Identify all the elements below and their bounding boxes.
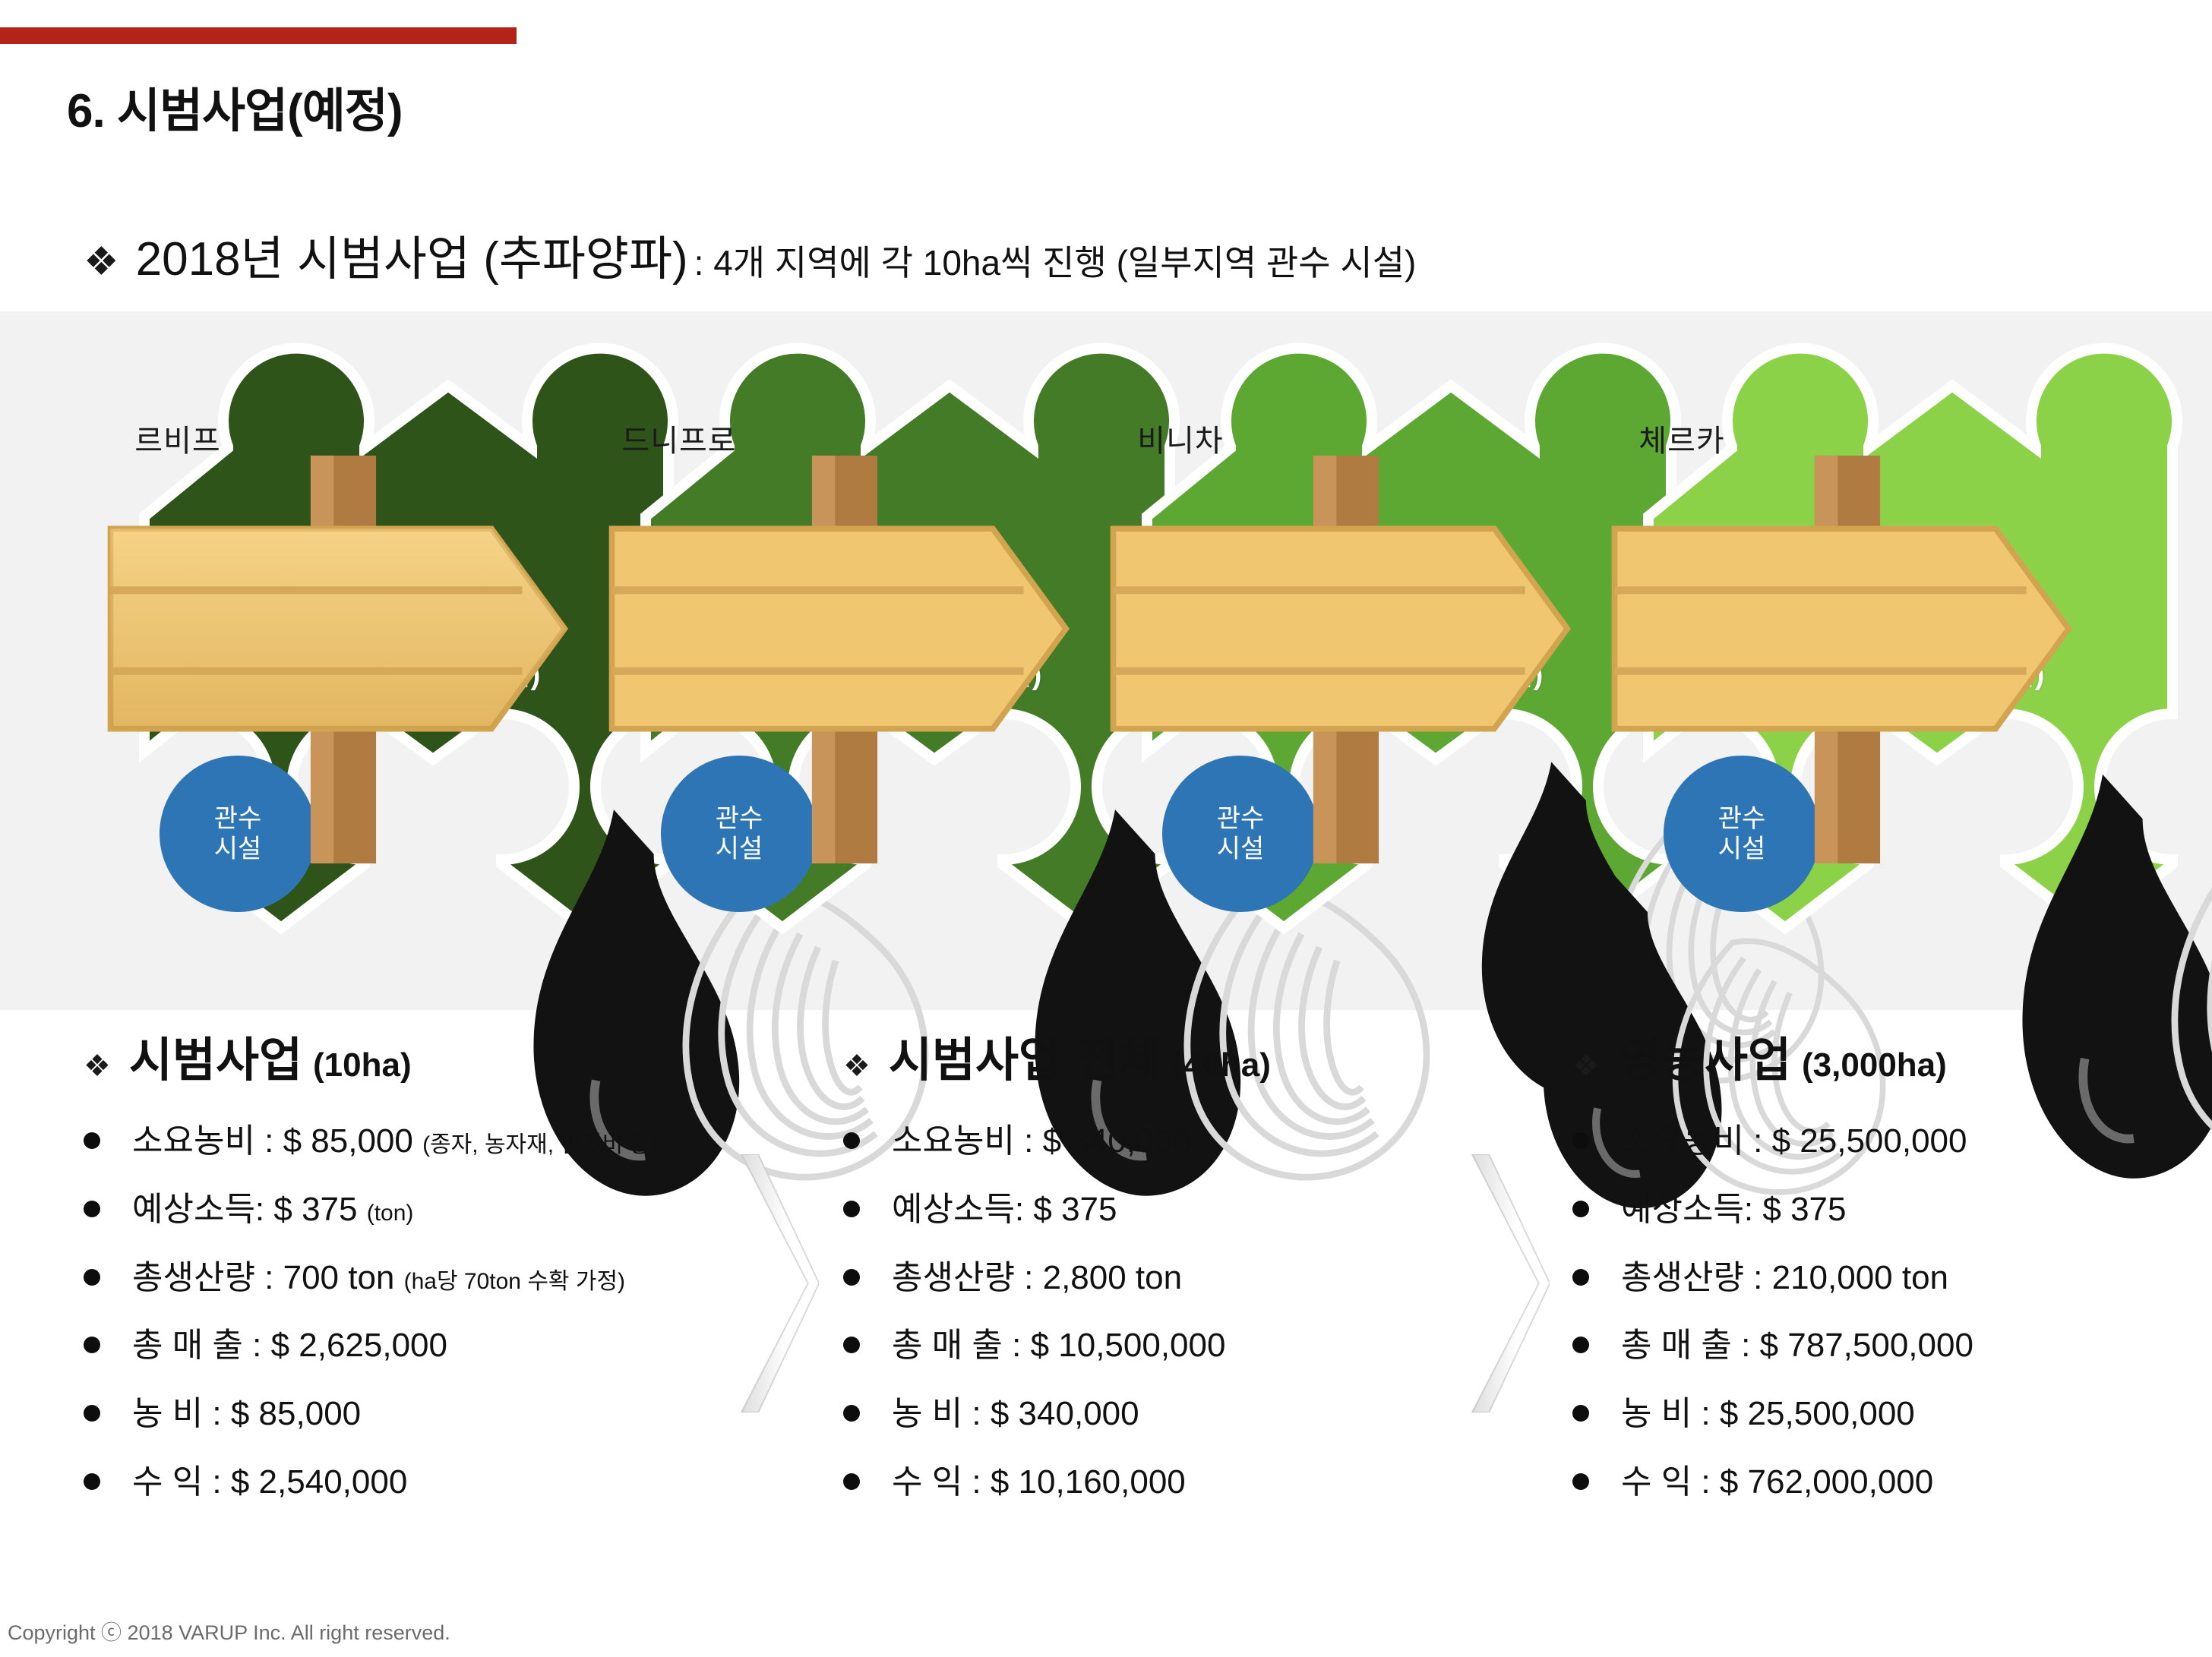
metric-text: 소요농비 : $ 85,000 (종자, 농자재, 인건비 등) (132, 1117, 658, 1166)
metric-list-3: 소요농비 : $ 25,500,000 예상소득: $ 375 총생산량 : 2… (1572, 1117, 2210, 1507)
metric-text: 예상소득: $ 375 (1621, 1185, 1846, 1234)
metric-text: 총생산량 : 700 ton (ha당 70ton 수확 가정) (132, 1254, 625, 1302)
diamond-bullet-icon-c1: ❖ (84, 1049, 111, 1084)
column-header-3: ❖ 영농사업 (3,000ha) (1572, 1021, 2210, 1090)
footer-copyright: Copyright ⓒ 2018 VARUP Inc. All right re… (8, 1616, 450, 1646)
list-item: 총생산량 : 2,800 ton (843, 1254, 1527, 1302)
metric-text: 총생산량 : 2,800 ton (892, 1254, 1182, 1302)
bullet-dot-icon (84, 1473, 100, 1490)
diamond-bullet-icon-c2: ❖ (843, 1049, 871, 1084)
list-item: 소요농비 : $ 85,000 (종자, 농자재, 인건비 등) (84, 1117, 805, 1166)
bullet-dot-icon (84, 1269, 100, 1286)
subtitle-detail-text: : 4개 지역에 각 10ha씩 진행 (일부지역 관수 시설) (694, 235, 1417, 286)
bullet-dot-icon (843, 1337, 860, 1353)
metric-text: 예상소득: $ 375 (ton) (132, 1185, 413, 1234)
list-item: 수 익 : $ 10,160,000 (843, 1458, 1527, 1507)
column-scale-2: (40ha) (1172, 1046, 1271, 1084)
metric-text: 수 익 : $ 762,000,000 (1621, 1458, 1933, 1507)
metric-text: 총생산량 : 210,000 ton (1621, 1254, 1948, 1302)
summary-column-farming-3000ha: ❖ 영농사업 (3,000ha) 소요농비 : $ 25,500,000 예상소… (1572, 1021, 2210, 1526)
list-item: 총생산량 : 700 ton (ha당 70ton 수확 가정) (84, 1254, 805, 1302)
metric-text: 예상소득: $ 375 (892, 1185, 1117, 1234)
region-name-2: 드니프로 (603, 416, 755, 460)
list-item: 농 비 : $ 25,500,000 (1572, 1390, 2210, 1438)
bullet-dot-icon (843, 1201, 860, 1217)
title-accent-rule (0, 27, 517, 44)
metric-list-2: 소요농비 : $ 340,000 예상소득: $ 375 총생산량 : 2,80… (843, 1117, 1527, 1507)
subtitle-main-text: 2018년 시범사업 (추파양파) (136, 220, 688, 289)
column-title-3: 영농사업 (1618, 1021, 1791, 1090)
bullet-dot-icon (1572, 1405, 1589, 1422)
summary-columns: ❖ 시범사업 (10ha) 소요농비 : $ 85,000 (종자, 농자재, … (0, 1021, 2212, 1644)
region-piece-4[interactable]: 10ha 추파양파 재배 (노지) (1618, 357, 2195, 957)
signpost-4: 체르카 (1588, 361, 1815, 536)
summary-column-pilot-10ha: ❖ 시범사업 (10ha) 소요농비 : $ 85,000 (종자, 농자재, … (84, 1021, 805, 1526)
list-item: 예상소득: $ 375 (843, 1185, 1527, 1234)
bullet-dot-icon (1572, 1269, 1589, 1286)
bullet-dot-icon (84, 1132, 100, 1149)
bullet-dot-icon (84, 1405, 100, 1422)
metric-text: 총 매 출 : $ 787,500,000 (1621, 1321, 1973, 1370)
metric-text: 소요농비 : $ 340,000 (892, 1117, 1191, 1166)
list-item: 소요농비 : $ 25,500,000 (1572, 1117, 2210, 1166)
metric-text: 농 비 : $ 340,000 (892, 1390, 1139, 1438)
regions-band: 10ha 추파양파 재배 (노지) (0, 311, 2212, 1010)
bullet-dot-icon (843, 1405, 860, 1422)
bullet-dot-icon (843, 1473, 860, 1490)
bullet-dot-icon (843, 1132, 860, 1149)
signpost-2: 드니프로 (585, 361, 813, 536)
column-scale-3: (3,000ha) (1802, 1046, 1947, 1084)
column-title-2: 시범사업 전체 (889, 1021, 1161, 1090)
bullet-dot-icon (84, 1201, 100, 1217)
subtitle: ❖ 2018년 시범사업 (추파양파) : 4개 지역에 각 10ha씩 진행 … (84, 220, 1416, 289)
metric-text: 소요농비 : $ 25,500,000 (1621, 1117, 1967, 1166)
puzzle-pieces-group: 10ha 추파양파 재배 (노지) (0, 311, 2212, 1010)
column-title-1: 시범사업 (129, 1021, 302, 1090)
region-name-1: 르비프 (102, 416, 254, 460)
summary-column-pilot-total-40ha: ❖ 시범사업 전체 (40ha) 소요농비 : $ 340,000 예상소득: … (843, 1021, 1527, 1526)
list-item: 총 매 출 : $ 2,625,000 (84, 1321, 805, 1370)
list-item: 총 매 출 : $ 10,500,000 (843, 1321, 1527, 1370)
list-item: 예상소득: $ 375 (1572, 1185, 2210, 1234)
list-item: 예상소득: $ 375 (ton) (84, 1185, 805, 1234)
list-item: 소요농비 : $ 340,000 (843, 1117, 1527, 1166)
region-name-3: 비니차 (1104, 416, 1256, 460)
metric-text: 수 익 : $ 10,160,000 (892, 1458, 1186, 1507)
column-scale-1: (10ha) (313, 1046, 412, 1084)
region-name-4: 체르카 (1606, 416, 1758, 460)
list-item: 농 비 : $ 85,000 (84, 1390, 805, 1438)
list-item: 총 매 출 : $ 787,500,000 (1572, 1321, 2210, 1370)
metric-text: 총 매 출 : $ 10,500,000 (892, 1321, 1225, 1370)
diamond-bullet-icon-c3: ❖ (1572, 1049, 1600, 1084)
bullet-dot-icon (843, 1269, 860, 1286)
page-title: 6. 시범사업(예정) (67, 72, 402, 140)
bullet-dot-icon (84, 1337, 100, 1353)
metric-text: 총 매 출 : $ 2,625,000 (132, 1321, 447, 1370)
metric-list-1: 소요농비 : $ 85,000 (종자, 농자재, 인건비 등) 예상소득: $… (84, 1117, 805, 1507)
bullet-dot-icon (1572, 1201, 1589, 1217)
column-header-2: ❖ 시범사업 전체 (40ha) (843, 1021, 1527, 1090)
signpost-1: 르비프 (84, 361, 311, 536)
column-header-1: ❖ 시범사업 (10ha) (84, 1021, 805, 1090)
metric-text: 농 비 : $ 85,000 (132, 1390, 361, 1438)
diamond-bullet-icon: ❖ (84, 242, 119, 282)
list-item: 수 익 : $ 762,000,000 (1572, 1458, 2210, 1507)
bullet-dot-icon (1572, 1473, 1589, 1490)
list-item: 수 익 : $ 2,540,000 (84, 1458, 805, 1507)
bullet-dot-icon (1572, 1337, 1589, 1353)
metric-text: 수 익 : $ 2,540,000 (132, 1458, 407, 1507)
list-item: 총생산량 : 210,000 ton (1572, 1254, 2210, 1302)
metric-text: 농 비 : $ 25,500,000 (1621, 1390, 1915, 1438)
signpost-3: 비니차 (1086, 361, 1314, 536)
bullet-dot-icon (1572, 1132, 1589, 1149)
list-item: 농 비 : $ 340,000 (843, 1390, 1527, 1438)
